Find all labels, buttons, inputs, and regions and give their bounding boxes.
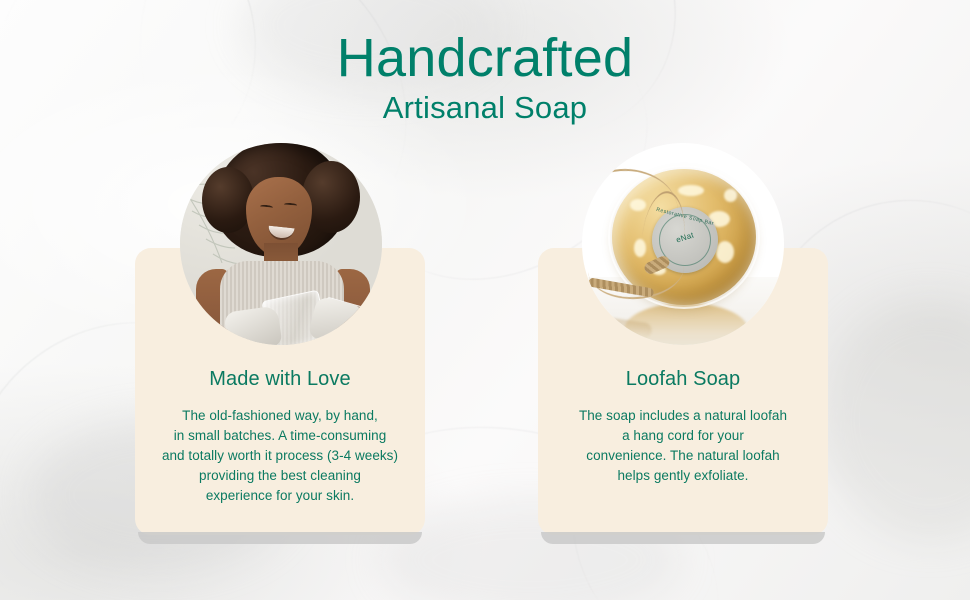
card-title: Made with Love (145, 366, 415, 392)
headline-primary: Handcrafted (0, 28, 970, 88)
headline-secondary: Artisanal Soap (0, 88, 970, 128)
banner-headline: Handcrafted Artisanal Soap (0, 28, 970, 128)
loofah-soap-bar-photo: Restorative Soap Bar eNat (582, 143, 784, 345)
card-body: The soap includes a natural loofah a han… (548, 406, 818, 486)
eye-shape (284, 203, 297, 208)
card-body: The old-fashioned way, by hand, in small… (145, 406, 415, 506)
card-text-block: Made with Love The old-fashioned way, by… (145, 366, 415, 506)
card-title: Loofah Soap (548, 366, 818, 392)
hand-shape (223, 305, 282, 345)
card-text-block: Loofah Soap The soap includes a natural … (548, 366, 818, 486)
woman-pouring-soap-photo (180, 143, 382, 345)
product-banner: Handcrafted Artisanal Soap Made with Lov… (0, 0, 970, 600)
